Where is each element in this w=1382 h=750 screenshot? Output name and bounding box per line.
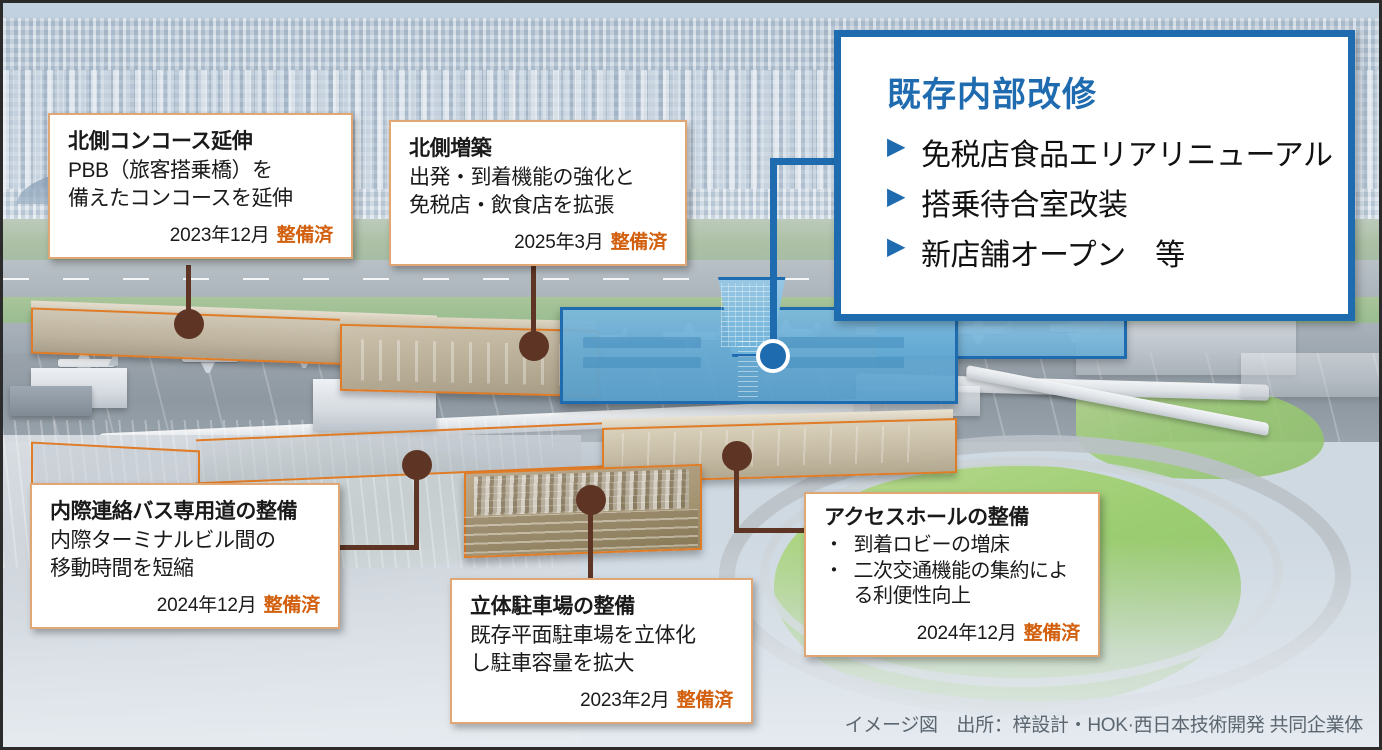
leader-line-access-hall-v — [734, 463, 739, 531]
callout-line: 既存平面駐車場を立体化 — [470, 622, 733, 649]
bullet-text: 到着ロビーの増床 — [854, 533, 1010, 559]
callout-line: 出発・到着機能の強化と — [409, 164, 667, 191]
panel-item-label: 新店舗オープン 等 — [921, 230, 1185, 274]
callout-title: 内際連絡バス専用道の整備 — [50, 499, 320, 525]
bullet-marker-icon: ・ — [824, 559, 844, 610]
callout-line: 免税店・飲食店を拡張 — [409, 192, 667, 219]
leader-dot-access-hall — [722, 441, 752, 471]
leader-line-access-hall-h — [734, 528, 814, 533]
triangle-bullet-icon: ▶ — [887, 130, 905, 165]
callout-title: 北側コンコース延伸 — [68, 129, 333, 155]
interior-renovation-panel[interactable]: 既存内部改修 ▶ 免税店食品エリアリニューアル ▶ 搭乗待合室改装 ▶ 新店舗オ… — [834, 30, 1355, 321]
status-badge: 整備済 — [1024, 623, 1080, 644]
leader-dot-bus-lane — [402, 450, 432, 480]
callout-date: 2023年12月 — [170, 225, 270, 246]
status-badge: 整備済 — [264, 595, 320, 616]
control-tower-stem — [738, 341, 759, 397]
airport-renovation-infographic: 北側コンコース延伸 PBB（旅客搭乗橋）を 備えたコンコースを延伸 2023年1… — [0, 0, 1382, 750]
callout-title: アクセスホールの整備 — [824, 505, 1080, 531]
callout-date: 2025年3月 — [514, 232, 603, 253]
triangle-bullet-icon: ▶ — [887, 180, 905, 215]
callout-bullet: ・ 到着ロビーの増床 — [824, 533, 1080, 559]
callout-status-row: 2023年2月整備済 — [470, 685, 733, 712]
callout-status-row: 2025年3月整備済 — [409, 227, 667, 254]
callout-status-row: 2024年12月整備済 — [50, 590, 320, 617]
control-tower-glazing — [721, 283, 776, 347]
parking-garage-decks — [464, 509, 698, 554]
blue-leader-vertical — [770, 158, 777, 348]
leader-dot-parking — [576, 485, 606, 515]
callout-title: 立体駐車場の整備 — [470, 594, 733, 620]
leader-dot-north-extension — [519, 331, 549, 361]
figure-caption: イメージ図 出所：梓設計・HOK·西日本技術開発 共同企業体 — [845, 710, 1363, 737]
callout-date: 2024年12月 — [157, 595, 257, 616]
panel-item-label: 搭乗待合室改装 — [921, 180, 1128, 224]
blue-leader-dot — [756, 339, 790, 373]
callout-line: 備えたコンコースを延伸 — [68, 185, 333, 212]
leader-dot-north-concourse — [174, 309, 204, 339]
callout-status-row: 2023年12月整備済 — [68, 220, 333, 247]
callout-date: 2023年2月 — [580, 690, 669, 711]
callout-line: 内際ターミナルビル間の — [50, 527, 320, 554]
panel-list-item: ▶ 搭乗待合室改装 — [887, 180, 1348, 224]
status-badge: 整備済 — [611, 232, 667, 253]
status-badge: 整備済 — [277, 225, 333, 246]
bullet-text: 二次交通機能の集約によ る利便性向上 — [854, 559, 1069, 610]
callout-access-hall[interactable]: アクセスホールの整備 ・ 到着ロビーの増床 ・ 二次交通機能の集約によ る利便性… — [804, 492, 1100, 657]
callout-status-row: 2024年12月整備済 — [824, 618, 1080, 645]
callout-bullet: ・ 二次交通機能の集約によ る利便性向上 — [824, 559, 1080, 610]
callout-title: 北側増築 — [409, 136, 667, 162]
panel-item-label: 免税店食品エリアリニューアル — [921, 130, 1333, 174]
triangle-bullet-icon: ▶ — [887, 230, 905, 265]
callout-line: 移動時間を短縮 — [50, 555, 320, 582]
callout-parking-garage[interactable]: 立体駐車場の整備 既存平面駐車場を立体化 し駐車容量を拡大 2023年2月整備済 — [450, 578, 753, 724]
panel-title: 既存内部改修 — [887, 67, 1348, 116]
callout-north-concourse[interactable]: 北側コンコース延伸 PBB（旅客搭乗橋）を 備えたコンコースを延伸 2023年1… — [48, 113, 353, 259]
panel-list-item: ▶ 新店舗オープン 等 — [887, 230, 1348, 274]
distant-warehouse-2 — [1241, 353, 1379, 398]
access-hall-roof-ribs — [622, 424, 925, 470]
hangar-building — [10, 386, 93, 416]
panel-list-item: ▶ 免税店食品エリアリニューアル — [887, 130, 1348, 174]
callout-date: 2024年12月 — [917, 623, 1017, 644]
bullet-marker-icon: ・ — [824, 533, 844, 559]
callout-bus-lane[interactable]: 内際連絡バス専用道の整備 内際ターミナルビル間の 移動時間を短縮 2024年12… — [30, 483, 340, 629]
callout-line: PBB（旅客搭乗橋）を — [68, 157, 333, 184]
callout-line: し駐車容量を拡大 — [470, 650, 733, 677]
callout-north-extension[interactable]: 北側増築 出発・到着機能の強化と 免税店・飲食店を拡張 2025年3月整備済 — [389, 120, 687, 266]
status-badge: 整備済 — [677, 690, 733, 711]
